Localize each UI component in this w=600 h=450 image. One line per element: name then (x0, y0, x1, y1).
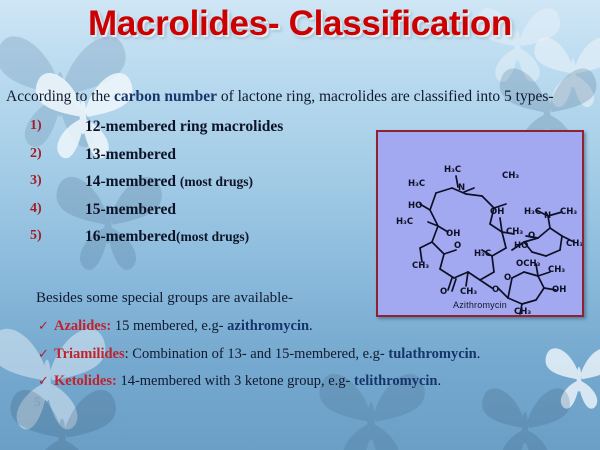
list-text-main: 16-membered (85, 228, 176, 245)
drug-name: tulathromycin (388, 346, 476, 362)
group-term: Azalides: (54, 318, 111, 334)
atom-label: O (492, 285, 499, 295)
atom-label: HO (408, 201, 422, 211)
group-description: 15 membered, e.g- (111, 318, 227, 334)
special-groups-list: ✓ Azalides: 15 membered, e.g- azithromyc… (0, 318, 600, 401)
list-text-main: 15-membered (85, 201, 176, 218)
structure-caption: Azithromycin (378, 300, 582, 310)
list-text: 13-membered (85, 146, 176, 164)
classification-list: 1) 12-membered ring macrolides 2) 13-mem… (0, 118, 370, 256)
atom-label: O (528, 231, 535, 241)
atom-label: OH (446, 229, 460, 239)
intro-after: of lactone ring, macrolides are classifi… (217, 88, 554, 105)
list-item: 1) 12-membered ring macrolides (0, 118, 370, 146)
group-description: 14-membered with 3 ketone group, e.g- (117, 373, 354, 389)
list-text-main: 12-membered ring macrolides (85, 118, 283, 135)
atom-label: CH₃ (560, 207, 577, 217)
check-icon: ✓ (38, 319, 49, 334)
list-text: 14-membered (most drugs) (85, 173, 253, 191)
atom-label: OCH₃ (516, 259, 541, 269)
atom-label: H₃C (444, 165, 461, 175)
atom-label: CH₃ (566, 239, 582, 249)
list-text: Ketolides: 14-membered with 3 ketone gro… (54, 373, 441, 390)
list-text-main: 13-membered (85, 146, 176, 163)
atom-label: CH₃ (506, 227, 523, 237)
atom-label: OH (490, 207, 504, 217)
slide-canvas: Macrolides- Classification According to … (0, 0, 600, 450)
list-marker: 3) (30, 173, 42, 189)
intro-text: According to the carbon number of lacton… (6, 88, 598, 106)
list-text: 16-membered(most drugs) (85, 228, 249, 246)
group-description: : Combination of 13- and 15-membered, e.… (125, 346, 389, 362)
list-text-note: (most drugs) (176, 229, 249, 244)
atom-label: H₃C (408, 179, 425, 189)
atom-label: N (458, 183, 465, 193)
intro-before: According to the (6, 88, 114, 105)
intro-emphasis: carbon number (114, 88, 217, 105)
check-icon: ✓ (38, 374, 49, 389)
azithromycin-structure-diagram: H₃C N CH₃ H₃C HO H₃C OH OH CH₃ O O CH₃ C… (378, 132, 582, 315)
list-marker: 5) (30, 228, 42, 244)
slide-number: 5 (34, 394, 41, 410)
atom-label: O (504, 273, 511, 283)
list-text-main: 14-membered (85, 173, 180, 190)
list-text-note: (most drugs) (180, 174, 253, 189)
atom-label: CH₃ (548, 265, 565, 275)
atom-label: CH₃ (502, 171, 519, 181)
atom-label: HO (514, 241, 528, 251)
list-item: ✓ Ketolides: 14-membered with 3 ketone g… (0, 373, 600, 401)
list-item: 4) 15-membered (0, 201, 370, 229)
list-item: ✓ Azalides: 15 membered, e.g- azithromyc… (0, 318, 600, 346)
list-item: 2) 13-membered (0, 146, 370, 174)
page-title: Macrolides- Classification (0, 4, 600, 44)
atom-label: CH₃ (460, 287, 477, 297)
list-item: 5) 16-membered(most drugs) (0, 228, 370, 256)
atom-label: O (440, 287, 447, 297)
group-tail: . (438, 373, 442, 389)
check-icon: ✓ (38, 347, 49, 362)
list-text: 12-membered ring macrolides (85, 118, 283, 136)
list-item: 3) 14-membered (most drugs) (0, 173, 370, 201)
besides-heading: Besides some special groups are availabl… (36, 290, 293, 307)
list-marker: 4) (30, 201, 42, 217)
list-marker: 2) (30, 146, 42, 162)
group-tail: . (309, 318, 313, 334)
atom-label: H₃C (396, 217, 413, 227)
atom-label: CH₃ (412, 261, 429, 271)
list-marker: 1) (30, 118, 42, 134)
drug-name: telithromycin (354, 373, 438, 389)
azithromycin-structure-panel: H₃C N CH₃ H₃C HO H₃C OH OH CH₃ O O CH₃ C… (376, 130, 584, 317)
list-text: 15-membered (85, 201, 176, 219)
list-item: ✓ Triamilides: Combination of 13- and 15… (0, 346, 600, 374)
atom-label: H₃C (524, 207, 541, 217)
group-tail: . (477, 346, 481, 362)
list-text: Triamilides: Combination of 13- and 15-m… (54, 346, 480, 363)
list-text: Azalides: 15 membered, e.g- azithromycin… (54, 318, 313, 335)
atom-label: N (544, 211, 551, 221)
drug-name: azithromycin (227, 318, 309, 334)
group-term: Triamilides (54, 346, 125, 362)
group-term: Ketolides: (54, 373, 117, 389)
atom-label: H₃C (474, 249, 491, 259)
atom-label: O (454, 241, 461, 251)
atom-label: OH (552, 285, 566, 295)
